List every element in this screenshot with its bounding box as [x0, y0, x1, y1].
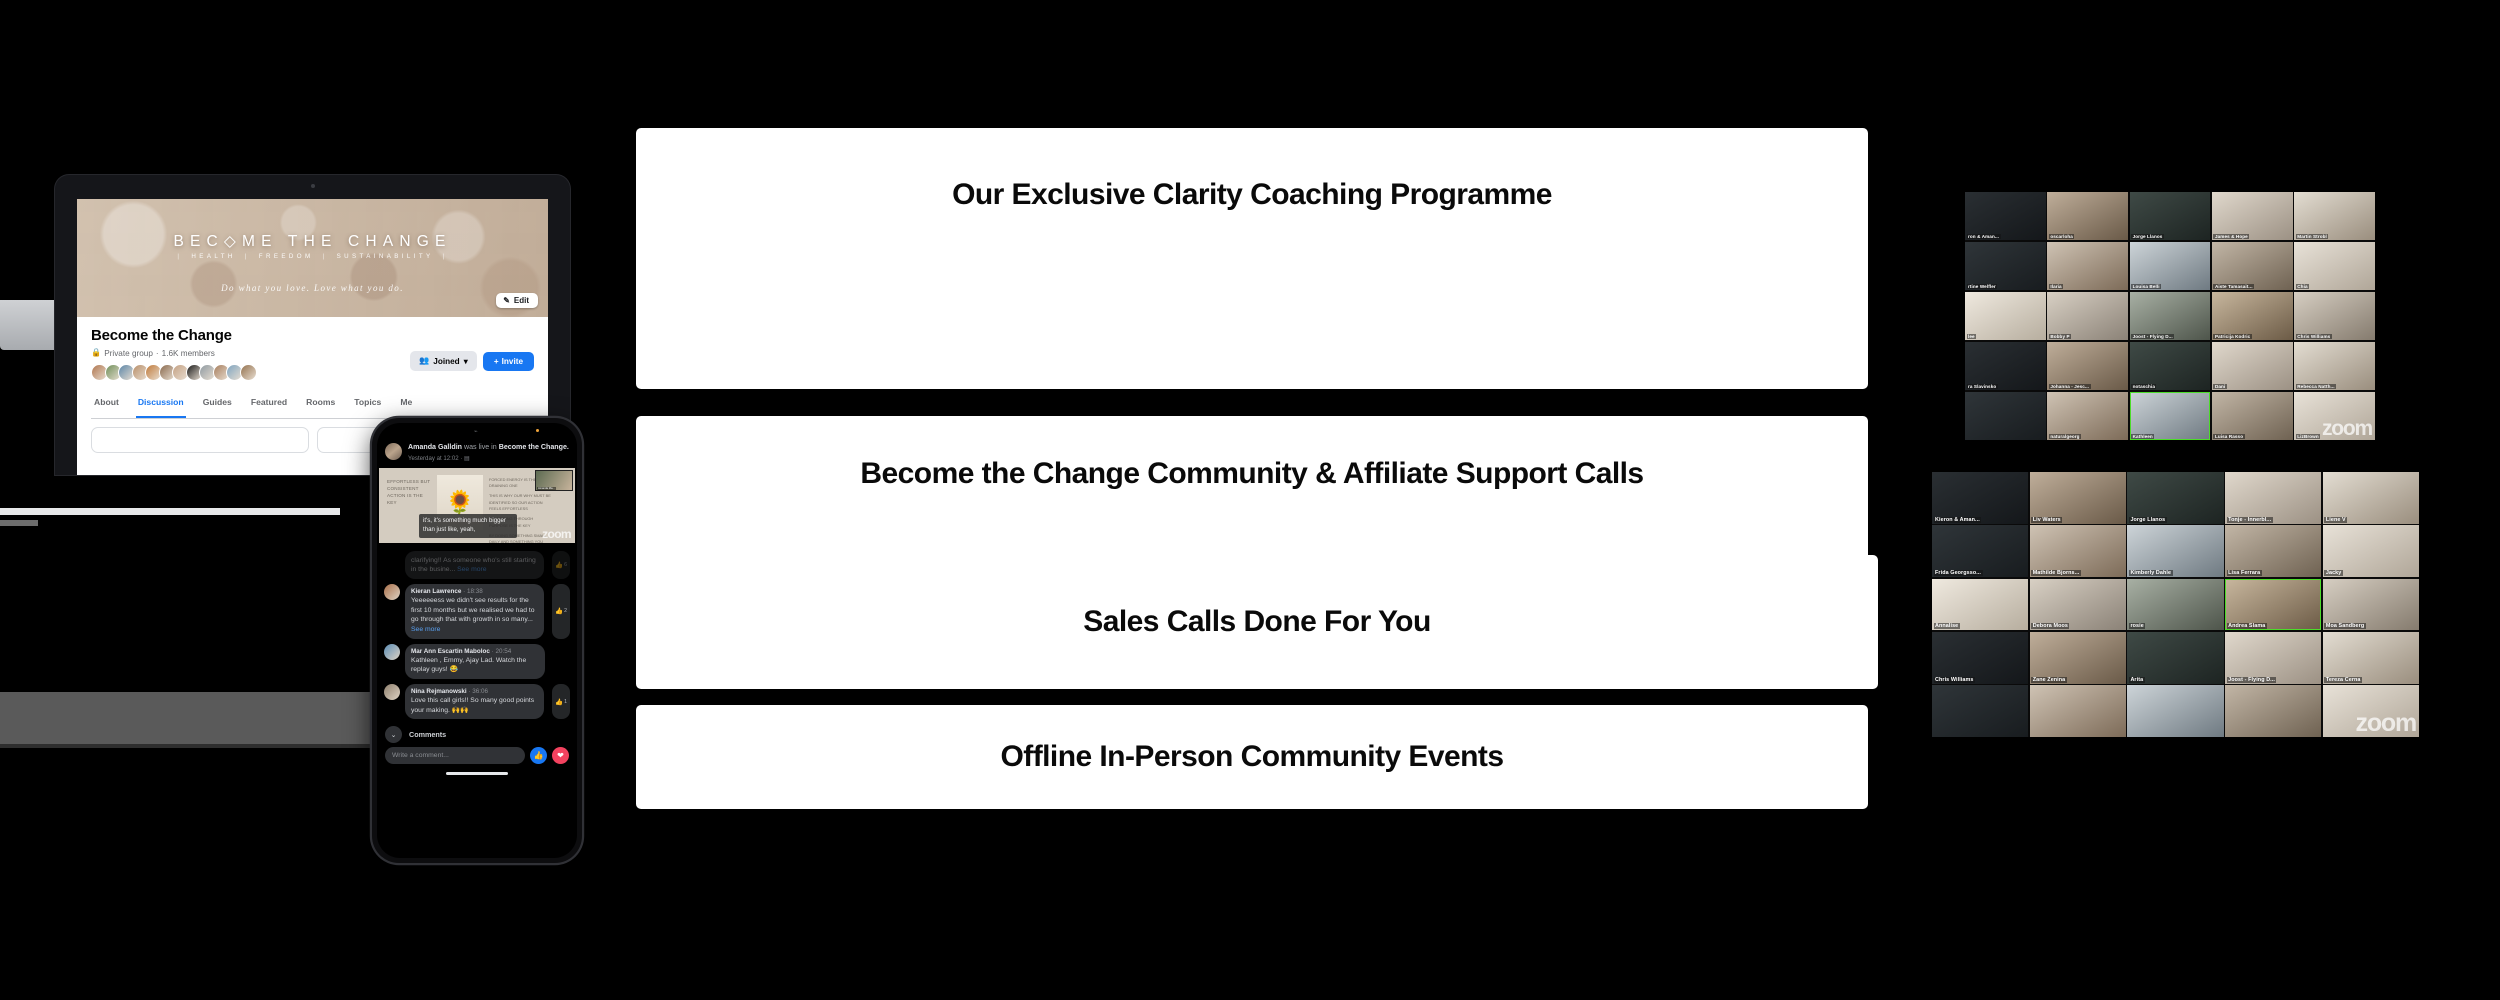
live-caption: it's, it's something much bigger than ju… — [419, 514, 517, 538]
zoom-participant-tile[interactable]: Ilaria — [2047, 242, 2128, 290]
zoom-participant-tile[interactable] — [2127, 685, 2223, 737]
phone-screen: ⌁ Amanda Galldin was live in Become the … — [377, 423, 577, 858]
participant-name-label: Jacky — [2324, 570, 2343, 576]
participant-name-label: Debora Moos — [2031, 623, 2069, 629]
zoom-participant-tile[interactable]: Arita — [2127, 632, 2223, 684]
zoom-participant-tile[interactable]: Aiste Tamasait... — [2212, 242, 2293, 290]
comment-avatar[interactable] — [384, 584, 400, 600]
composer-card[interactable] — [91, 427, 309, 453]
post-action-text: was live in — [464, 443, 497, 451]
zoom-participant-tile[interactable]: oscarloha — [2047, 192, 2128, 240]
participant-name-label: Frida Georgsso... — [1934, 570, 1983, 576]
feature-panel-3-label: Become the Change Community & Affiliate … — [860, 456, 1643, 491]
zoom-participant-tile[interactable]: naturalgeorg — [2047, 392, 2128, 440]
zoom-participant-tile[interactable]: Jorge Llanos — [2127, 472, 2223, 524]
participant-name-label: ra Slavinsko — [1967, 384, 1998, 389]
post-time-label: Yesterday at 12:02 — [408, 455, 459, 462]
see-more-link[interactable]: See more — [455, 566, 486, 573]
cover-pillars: |HEALTH|FREEDOM|SUSTAINABILITY| — [77, 253, 548, 260]
signal-icon: ⌁ — [474, 428, 478, 435]
feature-panel-4[interactable]: Sales Calls Done For You — [636, 555, 1878, 689]
group-tab-guides[interactable]: Guides — [201, 390, 234, 418]
comment-avatar[interactable] — [384, 684, 400, 700]
comment-author[interactable]: Nina Rejmanowski · 36:06 — [411, 688, 538, 695]
chevron-down-icon: ▾ — [464, 356, 468, 366]
composite-canvas: BEC◇ME THE CHANGE |HEALTH|FREEDOM|SUSTAI… — [0, 0, 2500, 1000]
live-video-player[interactable]: EFFORTLESS BUT CONSISTENT ACTION IS THE … — [379, 468, 575, 543]
participant-name-label: Tereza Černa — [2324, 677, 2362, 683]
participant-name-label: notaschia — [2131, 384, 2156, 389]
participant-name-label: Martin Strobl — [2296, 234, 2329, 239]
cover-pillar-2: SUSTAINABILITY — [328, 253, 443, 260]
comment-body: clarifying!! As someone who's still star… — [411, 556, 538, 575]
participant-name-label: Dani — [2213, 384, 2226, 389]
participant-name-label: LizBrown — [2296, 434, 2320, 439]
zoom-participant-tile[interactable]: Johanna - Jesc... — [2047, 342, 2128, 390]
zoom-participant-tile[interactable]: Joost - Flying D... — [2225, 632, 2321, 684]
lock-icon: 🔒 — [91, 348, 101, 358]
zoom-participant-tile[interactable]: notaschia — [2130, 342, 2211, 390]
post-author-avatar[interactable] — [385, 443, 402, 460]
joined-label: Joined — [433, 357, 459, 366]
home-indicator — [446, 772, 508, 775]
reaction-pill[interactable]: 👍6 — [552, 551, 570, 579]
cover-pillar-0: HEALTH — [182, 253, 244, 260]
zoom-participant-tile[interactable]: Jorge Llanos — [2130, 192, 2211, 240]
zoom-participant-tile[interactable] — [2225, 685, 2321, 737]
wall-line — [0, 520, 38, 526]
imac-camera-icon — [311, 184, 315, 188]
participant-name-label: Arita — [2129, 677, 2145, 683]
zoom-participant-tile[interactable]: Zane Zenina — [2030, 632, 2126, 684]
comment-body: Yeeeeeess we didn't see results for the … — [411, 596, 538, 635]
zoom-participant-tile[interactable]: ra Slavinsko — [1965, 342, 2046, 390]
group-tab-me[interactable]: Me — [398, 390, 414, 418]
zoom-participant-tile[interactable] — [1965, 392, 2046, 440]
cover-edit-button[interactable]: ✎ Edit — [496, 293, 538, 308]
comment-list: clarifying!! As someone who's still star… — [377, 543, 577, 719]
member-avatar[interactable] — [240, 364, 257, 381]
feature-panel-4-label: Sales Calls Done For You — [1083, 604, 1430, 639]
feature-panel-5-label: Offline In-Person Community Events — [1000, 739, 1503, 774]
pip-name-label: Amanda Ma... — [537, 487, 556, 490]
participant-name-label: Ilaria — [2049, 284, 2063, 289]
phone-post-header: Amanda Galldin was live in Become the Ch… — [377, 440, 577, 468]
comment-bubble: clarifying!! As someone who's still star… — [405, 551, 544, 579]
participant-name-label: Tonje - Innerbl... — [2227, 517, 2273, 523]
participant-name-label: oscarloha — [2049, 234, 2075, 239]
participant-name-label: rtine Welfler — [1967, 284, 1998, 289]
group-tab-discussion[interactable]: Discussion — [136, 390, 186, 418]
see-more-link[interactable]: See more — [411, 626, 440, 633]
zoom-participant-tile[interactable] — [2030, 685, 2126, 737]
zoom-participant-tile[interactable]: Liv Waters — [2030, 472, 2126, 524]
comment-timestamp: · 18:38 — [461, 588, 482, 595]
participant-name-label: Lisa Ferrara — [2227, 570, 2262, 576]
participant-name-label: Joost - Flying D... — [2131, 334, 2174, 339]
zoom-participant-tile[interactable]: Louisa Belli — [2130, 242, 2211, 290]
heart-icon[interactable]: ❤ — [552, 747, 569, 764]
participant-name-label: Jorge Llanos — [2131, 234, 2164, 239]
zoom-participant-tile[interactable]: Liene V — [2323, 472, 2419, 524]
group-tab-rooms[interactable]: Rooms — [304, 390, 337, 418]
feature-panel-1[interactable]: Our Exclusive Clarity Coaching Programme — [636, 128, 1868, 389]
zoom-participant-tile[interactable]: rosie — [2127, 579, 2223, 631]
participant-name-label: Liv Waters — [2031, 517, 2062, 523]
participant-name-label: Patricija Kodric — [2213, 334, 2251, 339]
audience-icon: · ▤ — [460, 455, 469, 462]
zoom-participant-tile[interactable]: James & Hope — [2212, 192, 2293, 240]
comment-author[interactable]: Mar Ann Escartin Maboloc · 20:54 — [411, 648, 539, 655]
post-timestamp: Yesterday at 12:02 · ▤ — [408, 455, 569, 462]
zoom-participant-tile[interactable]: Kimberly Dahle — [2127, 525, 2223, 577]
zoom-participant-tile[interactable]: Frida Georgsso... — [1932, 525, 2028, 577]
feature-panel-1-label: Our Exclusive Clarity Coaching Programme — [952, 177, 1552, 212]
zoom-participant-tile[interactable]: Jacky — [2323, 525, 2419, 577]
comment-composer: Write a comment... 👍 ❤ — [377, 747, 577, 770]
zoom-participant-tile[interactable]: Annalise — [1932, 579, 2028, 631]
participant-name-label: naturalgeorg — [2049, 434, 2081, 439]
joined-button[interactable]: 👥 Joined ▾ — [410, 351, 477, 371]
reaction-icon: 👍 — [555, 698, 563, 706]
group-member-count: 1.6K members — [162, 349, 215, 358]
comment-item[interactable]: Mar Ann Escartin Maboloc · 20:54Kathleen… — [384, 644, 570, 679]
participant-name-label: Luisa Rasso — [2213, 434, 2244, 439]
comment-body: Love this call girls!! So many good poin… — [411, 696, 538, 715]
comment-timestamp: · 36:06 — [467, 688, 488, 695]
post-byline: Amanda Galldin was live in Become the Ch… — [408, 443, 569, 453]
presenter-pip: Amanda Ma... — [535, 470, 573, 491]
thumbs-up-icon[interactable]: 👍 — [530, 747, 547, 764]
invite-label: Invite — [502, 357, 523, 366]
participant-name-label: James & Hope — [2213, 234, 2249, 239]
participant-name-label: Joost - Flying D... — [2227, 677, 2277, 683]
post-group-name[interactable]: Become the Change. — [499, 443, 569, 451]
participant-name-label: Annalise — [1934, 623, 1960, 629]
participant-name-label: Rebecca Natth... — [2296, 384, 2336, 389]
participant-name-label: rosie — [2129, 623, 2145, 629]
zoom-participant-tile[interactable]: rtine Welfler — [1965, 242, 2046, 290]
zoom-participant-tile[interactable]: Martin Strobl — [2294, 192, 2375, 240]
comment-avatar[interactable] — [384, 644, 400, 660]
comment-bubble: Nina Rejmanowski · 36:06Love this call g… — [405, 684, 544, 719]
group-nav-tabs[interactable]: AboutDiscussionGuidesFeaturedRoomsTopics… — [91, 390, 534, 419]
zoom-participant-tile[interactable]: Rebecca Natth... — [2294, 342, 2375, 390]
zoom-participant-tile[interactable]: Tereza Černa — [2323, 632, 2419, 684]
zoom-participant-tile[interactable]: Kathleen — [2130, 392, 2211, 440]
group-tab-about[interactable]: About — [92, 390, 121, 418]
participant-name-label: Jorge Llanos — [2129, 517, 2167, 523]
chevron-down-icon[interactable]: ⌄ — [385, 726, 402, 743]
group-name: Become the Change — [91, 327, 534, 344]
group-privacy: Private group — [104, 349, 153, 358]
reaction-count: 2 — [564, 608, 567, 614]
group-tab-topics[interactable]: Topics — [352, 390, 383, 418]
zoom-participant-tile[interactable]: Joost - Flying D... — [2130, 292, 2211, 340]
participant-name-label: Bobby P — [2049, 334, 2071, 339]
reaction-pill[interactable]: 👍1 — [552, 684, 570, 719]
zoom-participant-tile[interactable]: Andrea Slama — [2225, 579, 2321, 631]
zoom-watermark: zoom — [2322, 418, 2372, 439]
comment-item[interactable]: Nina Rejmanowski · 36:06Love this call g… — [384, 684, 570, 719]
participant-name-label: lee — [1967, 334, 1977, 339]
slide-left-text: EFFORTLESS BUT CONSISTENT ACTION IS THE … — [387, 478, 433, 506]
zoom-participant-tile[interactable]: Patricija Kodric — [2212, 292, 2293, 340]
desk-edge — [0, 744, 372, 748]
invite-button[interactable]: + Invite — [483, 352, 534, 371]
group-tab-featured[interactable]: Featured — [249, 390, 289, 418]
group-action-buttons: 👥 Joined ▾ + Invite — [410, 351, 534, 371]
phone-status-bar: ⌁ — [377, 423, 577, 440]
participant-name-label: Chris Williams — [1934, 677, 1976, 683]
zoom-watermark: zoom — [2356, 711, 2416, 736]
reaction-icon: 👍 — [555, 607, 563, 615]
feature-panel-5[interactable]: Offline In-Person Community Events — [636, 705, 1868, 809]
participant-name-label: ron & Aman... — [1967, 234, 2001, 239]
comments-toggle[interactable]: ⌄ Comments — [377, 719, 577, 747]
zoom-participant-tile[interactable]: Tonje - Innerbl... — [2225, 472, 2321, 524]
participant-name-label: Andrea Slama — [2227, 623, 2267, 629]
meta-dot: · — [156, 349, 159, 358]
participant-name-label: Kimberly Dahle — [2129, 570, 2173, 576]
comment-timestamp: · 20:54 — [490, 648, 511, 655]
zoom-participant-tile[interactable]: Moa Sandberg — [2323, 579, 2419, 631]
zoom-participant-tile[interactable]: Mathilde Bjorns... — [2030, 525, 2126, 577]
feature-panel-3[interactable]: Become the Change Community & Affiliate … — [636, 416, 1868, 531]
plus-icon: + — [494, 357, 499, 366]
recording-indicator-icon — [536, 429, 539, 432]
zoom-participant-tile[interactable] — [1932, 685, 2028, 737]
participant-name-label: Chris Williams — [2296, 334, 2332, 339]
comment-input[interactable]: Write a comment... — [385, 747, 525, 764]
comments-label: Comments — [409, 730, 446, 739]
participant-name-label: Louisa Belli — [2131, 284, 2161, 289]
zoom-participant-tile[interactable]: Lisa Ferrara — [2225, 525, 2321, 577]
zoom-participant-tile[interactable]: Luisa Rasso — [2212, 392, 2293, 440]
comment-author[interactable]: Kieran Lawrence · 18:38 — [411, 588, 538, 595]
cover-title: BEC◇ME THE CHANGE — [77, 232, 548, 251]
zoom-participant-tile[interactable]: Kieron & Aman... — [1932, 472, 2028, 524]
zoom-participant-tile[interactable]: Chia — [2294, 242, 2375, 290]
participant-name-label: Chia — [2296, 284, 2309, 289]
comment-item[interactable]: clarifying!! As someone who's still star… — [384, 551, 570, 579]
zoom-participant-tile[interactable]: ron & Aman... — [1965, 192, 2046, 240]
group-cover-photo: BEC◇ME THE CHANGE |HEALTH|FREEDOM|SUSTAI… — [77, 199, 548, 317]
zoom-participant-tile[interactable]: Chris Williams — [2294, 292, 2375, 340]
zoom-grid-bottom: zoom Kieron & Aman...Liv WatersJorge Lla… — [1932, 472, 2419, 737]
reaction-icon: 👍 — [555, 561, 563, 569]
participant-name-label: Kathleen — [2131, 434, 2154, 439]
desk-band — [0, 692, 372, 744]
participant-name-label: Mathilde Bjorns... — [2031, 570, 2081, 576]
participant-name-label: Aiste Tamasait... — [2213, 284, 2254, 289]
slide-bullet-1: THIS IS WHY OUR WHY MUST BE IDENTIFIED S… — [489, 493, 551, 512]
zoom-grid-top: zoom ron & Aman...oscarlohaJorge LlanosJ… — [1965, 192, 2375, 440]
participant-name-label: Moa Sandberg — [2324, 623, 2365, 629]
cover-tagline: Do what you love. Love what you do. — [77, 283, 548, 293]
zoom-participant-tile[interactable]: Dani — [2212, 342, 2293, 390]
comment-item[interactable]: Kieran Lawrence · 18:38Yeeeeeess we didn… — [384, 584, 570, 639]
zoom-participant-tile[interactable]: Bobby P — [2047, 292, 2128, 340]
zoom-participant-tile[interactable]: Chris Williams — [1932, 632, 2028, 684]
reaction-count: 6 — [564, 562, 567, 568]
participant-name-label: Kieron & Aman... — [1934, 517, 1982, 523]
people-icon: 👥 — [419, 356, 429, 366]
comment-bubble: Mar Ann Escartin Maboloc · 20:54Kathleen… — [405, 644, 545, 679]
desk-surface-line — [0, 508, 340, 515]
comment-body: Kathleen , Emmy, Ajay Lad. Watch the rep… — [411, 656, 539, 675]
reaction-pill[interactable]: 👍2 — [552, 584, 570, 639]
zoom-participant-tile[interactable]: Debora Moos — [2030, 579, 2126, 631]
participant-name-label: Liene V — [2324, 517, 2347, 523]
zoom-watermark: zoom — [542, 527, 571, 541]
cover-pillar-1: FREEDOM — [250, 253, 323, 260]
participant-name-label: Zane Zenina — [2031, 677, 2067, 683]
pencil-icon: ✎ — [503, 296, 510, 305]
post-author-name[interactable]: Amanda Galldin — [408, 443, 462, 451]
zoom-participant-tile[interactable]: lee — [1965, 292, 2046, 340]
reaction-count: 1 — [564, 699, 567, 705]
iphone-mockup: ⌁ Amanda Galldin was live in Become the … — [372, 418, 582, 863]
participant-name-label: Johanna - Jesc... — [2049, 384, 2091, 389]
comment-bubble: Kieran Lawrence · 18:38Yeeeeeess we didn… — [405, 584, 544, 639]
cover-edit-label: Edit — [514, 296, 529, 305]
